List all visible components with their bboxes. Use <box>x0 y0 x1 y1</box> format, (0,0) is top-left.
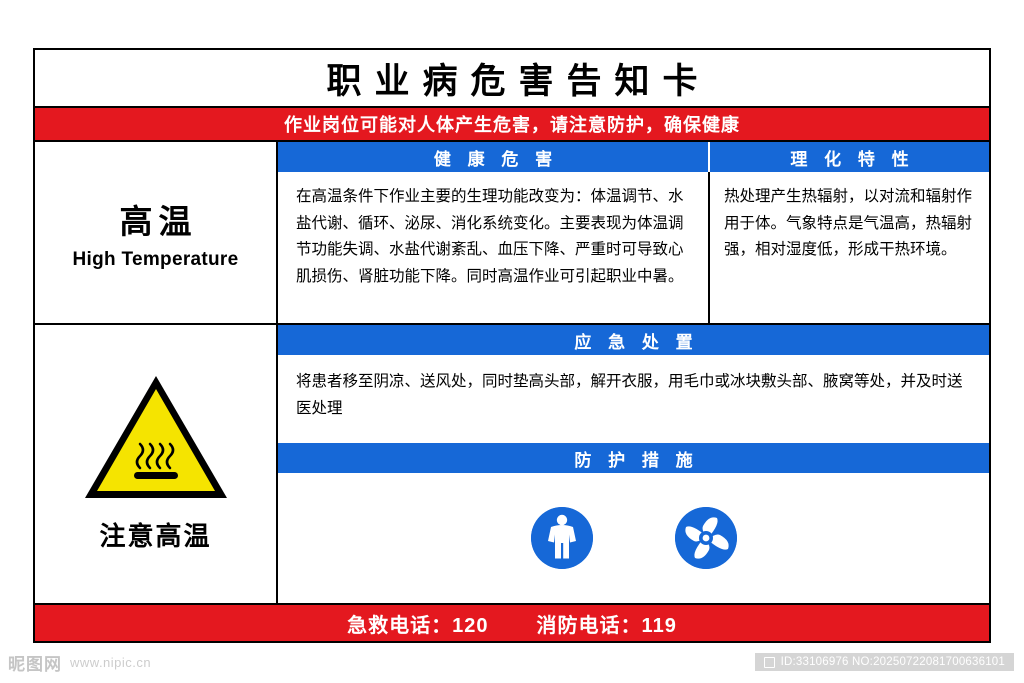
emergency-phone: 急救电话：120 <box>347 609 488 638</box>
watermark-id-text: ID:33106976 NO:20250722081700636101 <box>781 656 1005 668</box>
health-hazard-heading-text: 健 康 危 害 <box>428 145 558 170</box>
footer-phones: 急救电话：120 消防电话：119 <box>35 603 989 641</box>
physical-chemical-heading-text: 理 化 特 性 <box>784 145 914 170</box>
hazard-name-zh: 高温 <box>114 195 198 243</box>
physical-chemical-heading: 理 化 特 性 <box>710 142 989 172</box>
hazard-name-cell: 高温 High Temperature <box>35 142 278 323</box>
watermark-logo: 昵图网 <box>8 650 62 675</box>
emergency-heading: 应 急 处 置 <box>278 325 989 355</box>
ppe-icon-row <box>278 473 989 603</box>
emergency-protection-section: 注意高温 应 急 处 置 将患者移至阴凉、送风处，同时垫高头部，解开衣服，用毛巾… <box>35 325 989 603</box>
fire-phone: 消防电话：119 <box>537 609 677 638</box>
hazard-info-section: 高温 High Temperature 健 康 危 害 理 化 特 性 在高温条… <box>35 140 989 325</box>
hazard-detail-headings: 健 康 危 害 理 化 特 性 <box>278 142 989 172</box>
watermark-id-strip: ID:33106976 NO:20250722081700636101 <box>755 653 1014 671</box>
card-title-bar: 职业病危害告知卡 <box>35 50 989 108</box>
watermark-url: www.nipic.cn <box>70 655 151 670</box>
lock-icon <box>764 657 775 668</box>
emergency-text: 将患者移至阴凉、送风处，同时垫高头部，解开衣服，用毛巾或冰块敷头部、腋窝等处，并… <box>278 355 989 443</box>
hazard-notice-card: 职业病危害告知卡 作业岗位可能对人体产生危害，请注意防护，确保健康 高温 Hig… <box>33 48 991 643</box>
emergency-heading-text: 应 急 处 置 <box>568 328 698 353</box>
ventilation-fan-icon-svg <box>675 507 737 569</box>
protection-heading: 防 护 措 施 <box>278 443 989 473</box>
page-title: 职业病危害告知卡 <box>313 53 710 104</box>
hazard-detail-bodies: 在高温条件下作业主要的生理功能改变为：体温调节、水盐代谢、循环、泌尿、消化系统变… <box>278 172 989 323</box>
hot-surface-warning-triangle-svg <box>82 372 230 502</box>
protection-heading-text: 防 护 措 施 <box>568 446 698 471</box>
protective-clothing-icon-svg <box>531 507 593 569</box>
emergency-protection-columns: 应 急 处 置 将患者移至阴凉、送风处，同时垫高头部，解开衣服，用毛巾或冰块敷头… <box>278 325 989 603</box>
health-hazard-heading: 健 康 危 害 <box>278 142 710 172</box>
ventilation-fan-icon <box>675 507 737 569</box>
warning-caption: 注意高温 <box>99 516 211 553</box>
health-hazard-text: 在高温条件下作业主要的生理功能改变为：体温调节、水盐代谢、循环、泌尿、消化系统变… <box>278 172 710 323</box>
watermark: 昵图网 www.nipic.cn <box>8 650 151 675</box>
protective-clothing-icon <box>531 507 593 569</box>
hazard-detail-columns: 健 康 危 害 理 化 特 性 在高温条件下作业主要的生理功能改变为：体温调节、… <box>278 142 989 323</box>
hazard-name-en: High Temperature <box>73 249 239 271</box>
hot-surface-warning-triangle <box>82 372 230 502</box>
warning-sign-cell: 注意高温 <box>35 325 278 603</box>
warning-banner: 作业岗位可能对人体产生危害，请注意防护，确保健康 <box>35 108 989 140</box>
physical-chemical-text: 热处理产生热辐射，以对流和辐射作用于体。气象特点是气温高，热辐射强，相对湿度低，… <box>710 172 989 323</box>
warning-banner-text: 作业岗位可能对人体产生危害，请注意防护，确保健康 <box>284 111 740 137</box>
